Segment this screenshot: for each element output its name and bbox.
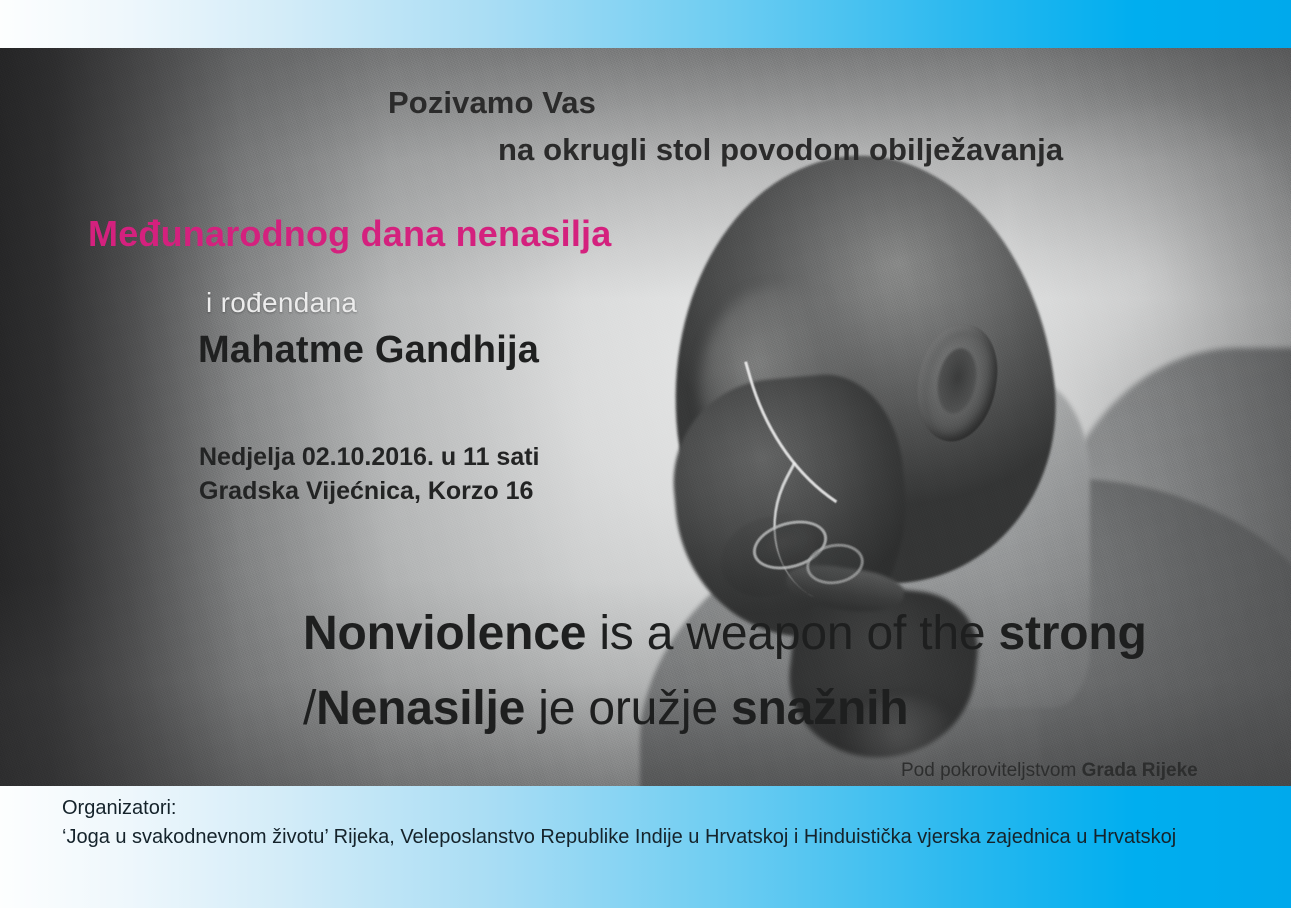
quote-english-strong-2: strong bbox=[998, 607, 1146, 660]
poster-text-layer: Pozivamo Vas na okrugli stol povodom obi… bbox=[0, 0, 1291, 908]
quote-english-strong-1: Nonviolence bbox=[303, 607, 586, 660]
sponsor-prefix: Pod pokroviteljstvom bbox=[901, 760, 1082, 781]
invitation-line-2: na okrugli stol povodom obilježavanja bbox=[498, 132, 1063, 168]
quote-croatian-light: je oružje bbox=[525, 682, 731, 735]
occasion-day-title: Međunarodnog dana nenasilja bbox=[88, 213, 611, 255]
event-location: Gradska Vijećnica, Korzo 16 bbox=[199, 477, 533, 506]
organizers-label: Organizatori: bbox=[62, 797, 177, 820]
quote-croatian-strong-1: Nenasilje bbox=[316, 682, 525, 735]
sponsor-name: Grada Rijeke bbox=[1082, 760, 1198, 781]
organizers-list: ‘Joga u svakodnevnom životu’ Rijeka, Vel… bbox=[62, 826, 1176, 849]
quote-croatian-strong-2: snažnih bbox=[731, 682, 908, 735]
occasion-and-birthday: i rođendana bbox=[206, 287, 357, 319]
quote-croatian-slash: / bbox=[303, 682, 316, 735]
occasion-person-name: Mahatme Gandhija bbox=[198, 329, 539, 372]
event-datetime: Nedjelja 02.10.2016. u 11 sati bbox=[199, 443, 540, 472]
sponsor-line: Pod pokroviteljstvom Grada Rijeke bbox=[901, 760, 1198, 782]
poster-canvas: Pozivamo Vas na okrugli stol povodom obi… bbox=[0, 0, 1291, 908]
quote-croatian: /Nenasilje je oružje snažnih bbox=[303, 681, 908, 736]
quote-english-light: is a weapon of the bbox=[586, 607, 998, 660]
quote-english: Nonviolence is a weapon of the strong bbox=[303, 606, 1147, 661]
invitation-line-1: Pozivamo Vas bbox=[388, 85, 596, 121]
